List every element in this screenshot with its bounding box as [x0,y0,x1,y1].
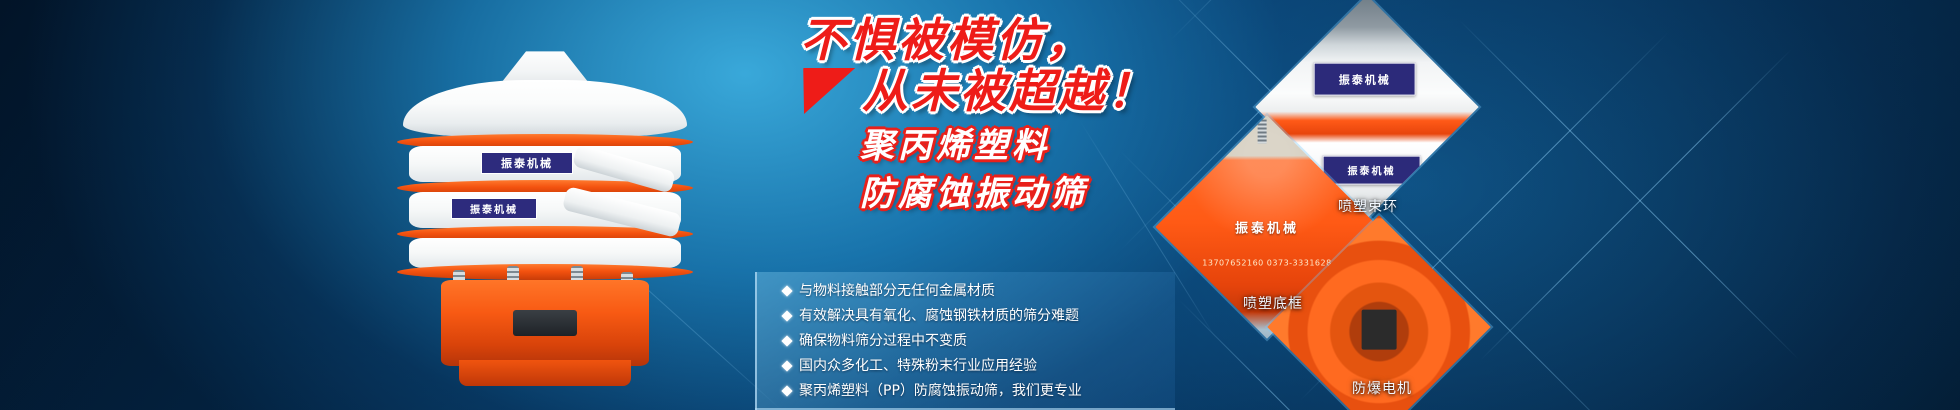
diamond-bullet-icon [781,385,792,396]
diamond-bullet-icon [781,310,792,321]
diamond-bullet-icon [781,360,792,371]
brand-plate-lower: 振泰机械 [451,198,537,219]
product-orange-band-4 [397,264,693,280]
tile-brand-plate-2: 振泰机械 [1322,156,1420,185]
product-foot-ring [459,360,631,386]
tile-brand-plate: 振泰机械 [1314,62,1416,95]
subheadline-block: 聚丙烯塑料 防腐蚀振动筛 [860,122,1088,219]
diamond-bullet-icon [781,335,792,346]
subheadline-line-2: 防腐蚀振动筛 [860,170,1088,218]
product-nameplate [513,310,577,336]
triangle-arrow-marker-icon [797,68,855,114]
feature-item: 确保物料筛分过程中不变质 [783,331,1175,352]
brand-plate-upper: 振泰机械 [481,152,573,174]
tile-spring-mid [1258,120,1267,144]
promo-banner: 振泰机械 振泰机械 不惧被模仿， 从未被超越！ 聚丙烯塑料 防腐蚀振动筛 [0,0,1960,410]
feature-text: 与物料接触部分无任何金属材质 [799,281,995,302]
tile-label-motor: 防爆电机 [1352,378,1412,398]
feature-text: 聚丙烯塑料（PP）防腐蚀振动筛，我们更专业 [799,381,1082,402]
feature-text: 确保物料筛分过程中不变质 [799,331,967,352]
subheadline-line-1: 聚丙烯塑料 [860,122,1088,170]
tile-spring-left [1196,125,1205,147]
diamond-bullet-icon [781,285,792,296]
feature-text: 有效解决具有氧化、腐蚀钢铁材质的筛分难题 [799,306,1079,327]
feature-item: 与物料接触部分无任何金属材质 [783,281,1175,302]
feature-list-panel: 与物料接触部分无任何金属材质 有效解决具有氧化、腐蚀钢铁材质的筛分难题 确保物料… [755,272,1175,410]
tile-label-clamp-ring: 喷塑束环 [1338,196,1398,216]
feature-item: 国内众多化工、特殊粉末行业应用经验 [783,356,1175,377]
feature-item: 聚丙烯塑料（PP）防腐蚀振动筛，我们更专业 [783,381,1175,402]
tile-brand-text: 振泰机械 [1187,205,1347,250]
feature-item: 有效解决具有氧化、腐蚀钢铁材质的筛分难题 [783,306,1175,327]
motor-hub [1361,309,1397,349]
product-photo-vibrating-screen: 振泰机械 振泰机械 [395,48,695,393]
product-top-dome [403,80,687,138]
tile-label-base-frame: 喷塑底框 [1243,293,1303,313]
headline-line-2: 从未被超越！ [862,67,1156,116]
feature-text: 国内众多化工、特殊粉末行业应用经验 [799,356,1037,377]
